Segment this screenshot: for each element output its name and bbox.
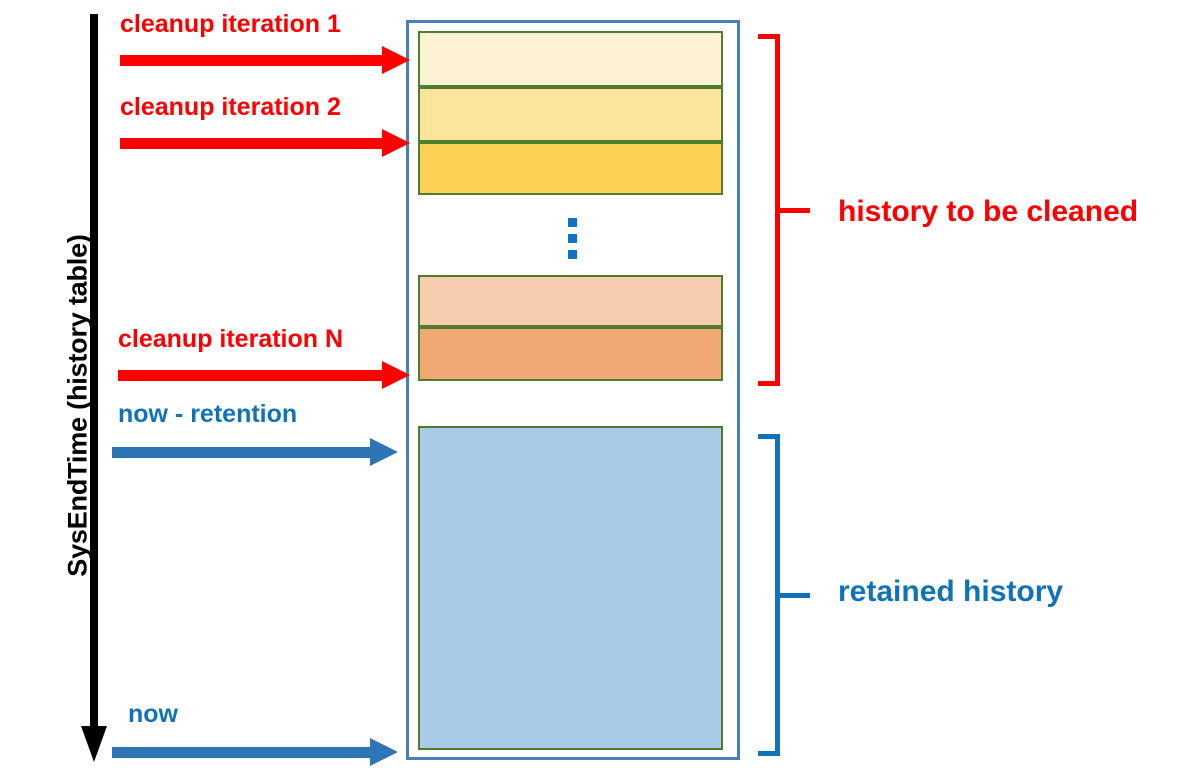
arrow-head-icon: [370, 738, 398, 766]
bracket-b-tick: [780, 208, 810, 213]
history-band-4: [418, 275, 723, 327]
axis-label-sysendtime: SysEndTime (history table): [63, 196, 94, 616]
history-band-2: [418, 87, 723, 142]
arrow-shaft: [120, 55, 382, 66]
history-band-3: [418, 142, 723, 195]
time-axis-shaft: [90, 14, 98, 730]
arrow-label-cleanup-iteration-n: cleanup iteration N: [118, 325, 343, 354]
arrow-shaft: [118, 370, 382, 381]
arrow-label-cleanup-iteration-1: cleanup iteration 1: [120, 10, 341, 39]
down-arrow-icon: [81, 726, 107, 762]
arrow-shaft: [120, 138, 382, 149]
bracket-history-to-be-cleaned: [758, 34, 780, 386]
arrow-shaft: [112, 747, 370, 758]
bracket-label-history-to-be-cleaned: history to be cleaned: [838, 195, 1138, 229]
arrow-label-now: now: [128, 700, 178, 729]
vertical-ellipsis-icon: [568, 218, 578, 259]
history-band-5: [418, 327, 723, 381]
arrow-head-icon: [382, 361, 410, 389]
arrow-label-cleanup-iteration-2: cleanup iteration 2: [120, 93, 341, 122]
arrow-head-icon: [382, 46, 410, 74]
bracket-b-tick: [780, 593, 810, 598]
arrow-head-icon: [370, 438, 398, 466]
arrow-label-now-minus-retention: now - retention: [118, 400, 297, 429]
diagram-canvas: SysEndTime (history table) cleanup itera…: [0, 0, 1200, 780]
history-band-1: [418, 31, 723, 87]
bracket-retained-history: [758, 434, 780, 756]
bracket-label-retained-history: retained history: [838, 575, 1063, 609]
history-band-6: [418, 426, 723, 750]
arrow-head-icon: [382, 129, 410, 157]
arrow-shaft: [112, 447, 370, 458]
